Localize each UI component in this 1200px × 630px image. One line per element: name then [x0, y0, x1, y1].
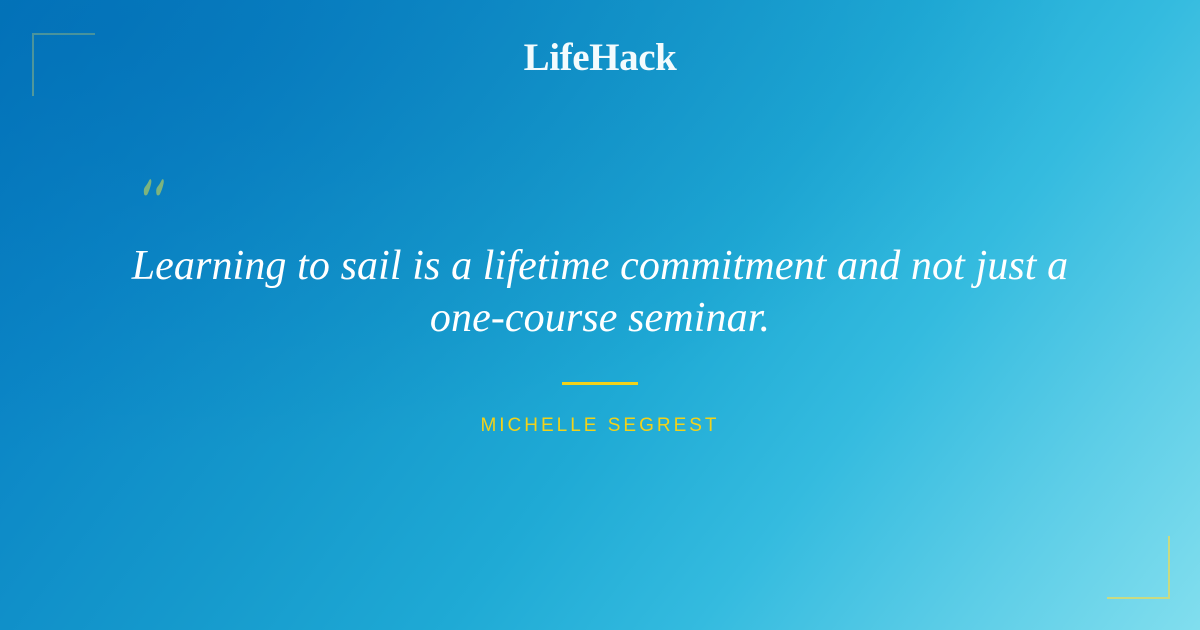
quote-text: Learning to sail is a lifetime commitmen… — [100, 240, 1100, 344]
quote-card: LifeHack Learning to sail is a lifetime … — [0, 0, 1200, 630]
quote-content: Learning to sail is a lifetime commitmen… — [0, 0, 1200, 630]
quote-author: MICHELLE SEGREST — [0, 415, 1200, 437]
quote-line-1: Learning to sail is a lifetime commitmen… — [132, 243, 1069, 289]
quote-line-2: one-course seminar. — [430, 295, 770, 341]
quotation-mark-icon — [133, 160, 193, 220]
quote-divider — [562, 382, 638, 385]
